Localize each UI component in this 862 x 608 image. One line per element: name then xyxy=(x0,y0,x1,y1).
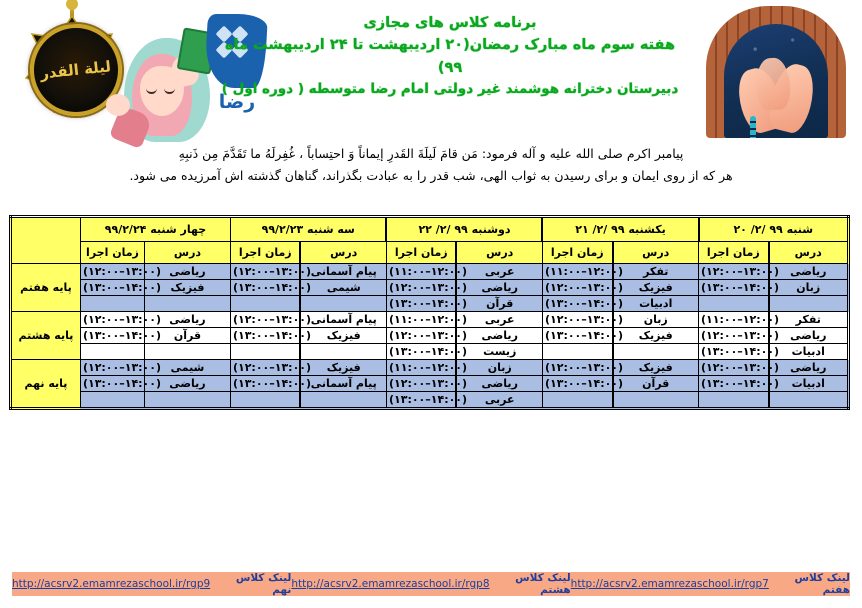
subheader-time-0: زمان اجرا xyxy=(699,242,769,264)
grade-label-2: پایه نهم xyxy=(10,360,80,409)
cell-subject-tuesday-2-1: پیام آسمانی xyxy=(300,376,386,392)
cell-time-saturday-1-2: (۱۳:۰۰–۱۴:۰۰) xyxy=(699,344,769,360)
cell-time-wednesday-2-1: (۱۳:۰۰–۱۴:۰۰) xyxy=(80,376,144,392)
cell-subject-saturday-0-2 xyxy=(769,296,849,312)
cell-time-wednesday-1-0: (۱۲:۰۰–۱۳:۰۰) xyxy=(80,312,144,328)
table-row: ریاضی(۱۲:۰۰–۱۳:۰۰)فیزیک(۱۳:۰۰–۱۴:۰۰)ریاض… xyxy=(10,328,848,344)
day-header-row: شنبه ۹۹ /۲/ ۲۰یکشنبه ۹۹ /۲/ ۲۱دوشنبه ۹۹ … xyxy=(10,217,848,242)
cell-time-saturday-0-2 xyxy=(699,296,769,312)
cell-subject-tuesday-0-2 xyxy=(300,296,386,312)
lower-hand-shape xyxy=(106,94,130,116)
cell-time-saturday-0-0: (۱۲:۰۰–۱۳:۰۰) xyxy=(699,264,769,280)
class-link-url-0[interactable]: http://acsrv2.emamrezaschool.ir/rgp7 xyxy=(571,578,769,590)
cell-time-sunday-2-0: (۱۲:۰۰–۱۳:۰۰) xyxy=(542,360,612,376)
prayer-beads-icon xyxy=(750,116,756,138)
cell-time-sunday-0-1: (۱۲:۰۰–۱۳:۰۰) xyxy=(542,280,612,296)
grade-label-0: پایه هفتم xyxy=(10,264,80,312)
cell-time-sunday-0-0: (۱۱:۰۰–۱۲:۰۰) xyxy=(542,264,612,280)
cell-subject-monday-1-2: زیست xyxy=(456,344,542,360)
cell-subject-monday-0-0: عربی xyxy=(456,264,542,280)
cell-subject-sunday-0-0: تفکر xyxy=(613,264,699,280)
schedule-poster: لیلة القدر رضا برنا xyxy=(0,0,862,608)
table-row: ادبیات(۱۳:۰۰–۱۴:۰۰)قرآن(۱۳:۰۰–۱۴:۰۰) xyxy=(10,296,848,312)
class-link-label-2: لینک کلاس نهم xyxy=(218,572,291,596)
cell-subject-tuesday-1-0: پیام آسمانی xyxy=(300,312,386,328)
hadith-arabic-line: پیامبر اکرم صلی الله علیه و آله فرمود: م… xyxy=(10,143,852,165)
link-group-2: لینک کلاس نهمhttp://acsrv2.emamrezaschoo… xyxy=(12,572,291,596)
class-link-label-0: لینک کلاس هفتم xyxy=(777,572,850,596)
table-row: ریاضی(۱۲:۰۰–۱۳:۰۰)فیزیک(۱۲:۰۰–۱۳:۰۰)زبان… xyxy=(10,360,848,376)
cell-time-sunday-0-2: (۱۳:۰۰–۱۴:۰۰) xyxy=(542,296,612,312)
link-group-1: لینک کلاس هشتمhttp://acsrv2.emamrezascho… xyxy=(291,572,570,596)
page-subtitle-week: هفته سوم ماه مبارک رمضان(۲۰ اردیبهشت تا … xyxy=(215,34,685,79)
cell-time-saturday-2-2 xyxy=(699,392,769,409)
class-link-label-1: لینک کلاس هشتم xyxy=(498,572,571,596)
cell-subject-wednesday-0-2 xyxy=(144,296,230,312)
cell-time-tuesday-2-0: (۱۲:۰۰–۱۳:۰۰) xyxy=(230,360,300,376)
subheader-subject-1: درس xyxy=(613,242,699,264)
cell-subject-sunday-1-0: زبان xyxy=(613,312,699,328)
cell-subject-wednesday-1-2 xyxy=(144,344,230,360)
class-link-url-1[interactable]: http://acsrv2.emamrezaschool.ir/rgp8 xyxy=(291,578,489,590)
cell-time-monday-1-2: (۱۳:۰۰–۱۴:۰۰) xyxy=(386,344,456,360)
cell-time-sunday-1-0: (۱۲:۰۰–۱۳:۰۰) xyxy=(542,312,612,328)
cell-subject-wednesday-2-2 xyxy=(144,392,230,409)
cell-subject-monday-0-2: قرآن xyxy=(456,296,542,312)
cell-subject-tuesday-0-1: شیمی xyxy=(300,280,386,296)
cell-time-saturday-1-0: (۱۱:۰۰–۱۲:۰۰) xyxy=(699,312,769,328)
cell-time-monday-2-0: (۱۱:۰۰–۱۲:۰۰) xyxy=(386,360,456,376)
cell-time-wednesday-1-2 xyxy=(80,344,144,360)
medallion-text: لیلة القدر xyxy=(40,57,113,82)
cell-time-saturday-1-1: (۱۲:۰۰–۱۳:۰۰) xyxy=(699,328,769,344)
cell-subject-tuesday-1-2 xyxy=(300,344,386,360)
cell-subject-saturday-1-1: ریاضی xyxy=(769,328,849,344)
cell-subject-monday-2-2: عربی xyxy=(456,392,542,409)
cell-time-monday-2-1: (۱۲:۰۰–۱۳:۰۰) xyxy=(386,376,456,392)
cell-time-wednesday-0-2 xyxy=(80,296,144,312)
day-header-3: سه شنبه ۹۹/۲/۲۳ xyxy=(230,217,386,242)
cell-subject-monday-2-1: ریاضی xyxy=(456,376,542,392)
cell-subject-saturday-2-1: ادبیات xyxy=(769,376,849,392)
cell-subject-tuesday-0-0: پیام آسمانی xyxy=(300,264,386,280)
schedule-table-wrapper: شنبه ۹۹ /۲/ ۲۰یکشنبه ۹۹ /۲/ ۲۱دوشنبه ۹۹ … xyxy=(12,215,850,410)
cell-time-sunday-1-1: (۱۳:۰۰–۱۴:۰۰) xyxy=(542,328,612,344)
table-row: زبان(۱۳:۰۰–۱۴:۰۰)فیزیک(۱۲:۰۰–۱۳:۰۰)ریاضی… xyxy=(10,280,848,296)
cell-subject-saturday-2-2 xyxy=(769,392,849,409)
schedule-table: شنبه ۹۹ /۲/ ۲۰یکشنبه ۹۹ /۲/ ۲۱دوشنبه ۹۹ … xyxy=(9,215,850,410)
cell-time-wednesday-0-1: (۱۳:۰۰–۱۴:۰۰) xyxy=(80,280,144,296)
cell-time-saturday-2-0: (۱۲:۰۰–۱۳:۰۰) xyxy=(699,360,769,376)
subheader-time-4: زمان اجرا xyxy=(80,242,144,264)
cell-subject-monday-2-0: زبان xyxy=(456,360,542,376)
page-title: برنامه کلاس های مجازی xyxy=(215,12,685,34)
link-group-0: لینک کلاس هفتمhttp://acsrv2.emamrezascho… xyxy=(571,572,850,596)
cell-time-wednesday-2-0: (۱۲:۰۰–۱۳:۰۰) xyxy=(80,360,144,376)
cell-time-saturday-0-1: (۱۳:۰۰–۱۴:۰۰) xyxy=(699,280,769,296)
sub-header-row: درسزمان اجرادرسزمان اجرادرسزمان اجرادرسز… xyxy=(10,242,848,264)
day-header-0: شنبه ۹۹ /۲/ ۲۰ xyxy=(699,217,849,242)
subheader-time-1: زمان اجرا xyxy=(542,242,612,264)
table-row: عربی(۱۳:۰۰–۱۴:۰۰) xyxy=(10,392,848,409)
cell-time-tuesday-1-2 xyxy=(230,344,300,360)
cell-time-sunday-2-1: (۱۳:۰۰–۱۴:۰۰) xyxy=(542,376,612,392)
cell-time-tuesday-1-0: (۱۲:۰۰–۱۳:۰۰) xyxy=(230,312,300,328)
cell-time-monday-1-1: (۱۲:۰۰–۱۳:۰۰) xyxy=(386,328,456,344)
table-row: ادبیات(۱۳:۰۰–۱۴:۰۰)زیست(۱۳:۰۰–۱۴:۰۰) xyxy=(10,344,848,360)
cell-subject-saturday-1-2: ادبیات xyxy=(769,344,849,360)
table-row: ادبیات(۱۳:۰۰–۱۴:۰۰)قرآن(۱۳:۰۰–۱۴:۰۰)ریاض… xyxy=(10,376,848,392)
day-header-4: چهار شنبه ۹۹/۲/۲۴ xyxy=(80,217,230,242)
cell-subject-sunday-1-1: فیزیک xyxy=(613,328,699,344)
cell-time-monday-0-1: (۱۲:۰۰–۱۳:۰۰) xyxy=(386,280,456,296)
cell-subject-sunday-2-0: فیزیک xyxy=(613,360,699,376)
cell-subject-saturday-0-0: ریاضی xyxy=(769,264,849,280)
cell-time-monday-2-2: (۱۳:۰۰–۱۴:۰۰) xyxy=(386,392,456,409)
cell-time-tuesday-0-1: (۱۳:۰۰–۱۴:۰۰) xyxy=(230,280,300,296)
hadith-block: پیامبر اکرم صلی الله علیه و آله فرمود: م… xyxy=(10,143,852,187)
cell-time-tuesday-1-1: (۱۳:۰۰–۱۴:۰۰) xyxy=(230,328,300,344)
subheader-subject-2: درس xyxy=(456,242,542,264)
cell-subject-monday-1-1: ریاضی xyxy=(456,328,542,344)
cell-time-sunday-1-2 xyxy=(542,344,612,360)
praying-hands-archway-image xyxy=(706,6,846,138)
subheader-subject-3: درس xyxy=(300,242,386,264)
cell-subject-saturday-0-1: زبان xyxy=(769,280,849,296)
night-sky-background xyxy=(724,24,828,138)
hadith-persian-line: هر که از روی ایمان و برای رسیدن به ثواب … xyxy=(10,165,852,187)
cell-subject-monday-0-1: ریاضی xyxy=(456,280,542,296)
cell-time-wednesday-1-1: (۱۳:۰۰–۱۴:۰۰) xyxy=(80,328,144,344)
day-header-1: یکشنبه ۹۹ /۲/ ۲۱ xyxy=(542,217,698,242)
cell-subject-tuesday-2-2 xyxy=(300,392,386,409)
cell-time-monday-0-0: (۱۱:۰۰–۱۲:۰۰) xyxy=(386,264,456,280)
subheader-time-2: زمان اجرا xyxy=(386,242,456,264)
subheader-subject-4: درس xyxy=(144,242,230,264)
cell-subject-sunday-2-1: قرآن xyxy=(613,376,699,392)
class-link-url-2[interactable]: http://acsrv2.emamrezaschool.ir/rgp9 xyxy=(12,578,210,590)
cell-time-wednesday-2-2 xyxy=(80,392,144,409)
cell-subject-sunday-2-2 xyxy=(613,392,699,409)
poster-title-block: برنامه کلاس های مجازی هفته سوم ماه مبارک… xyxy=(215,12,685,100)
cell-subject-tuesday-1-1: فیزیک xyxy=(300,328,386,344)
page-subtitle-school: دبیرستان دخترانه هوشمند غیر دولتی امام ر… xyxy=(215,79,685,100)
cell-time-tuesday-2-1: (۱۳:۰۰–۱۴:۰۰) xyxy=(230,376,300,392)
brick-arch-shape xyxy=(706,6,846,138)
cell-time-tuesday-0-0: (۱۲:۰۰–۱۳:۰۰) xyxy=(230,264,300,280)
table-row: ریاضی(۱۲:۰۰–۱۳:۰۰)تفکر(۱۱:۰۰–۱۲:۰۰)عربی(… xyxy=(10,264,848,280)
cell-time-saturday-2-1: (۱۳:۰۰–۱۴:۰۰) xyxy=(699,376,769,392)
cell-subject-tuesday-2-0: فیزیک xyxy=(300,360,386,376)
cell-time-tuesday-2-2 xyxy=(230,392,300,409)
subheader-subject-0: درس xyxy=(769,242,849,264)
cell-time-sunday-2-2 xyxy=(542,392,612,409)
cell-subject-sunday-1-2 xyxy=(613,344,699,360)
cell-subject-monday-1-0: عربی xyxy=(456,312,542,328)
grade-label-1: پایه هشتم xyxy=(10,312,80,360)
table-row: تفکر(۱۱:۰۰–۱۲:۰۰)زبان(۱۲:۰۰–۱۳:۰۰)عربی(۱… xyxy=(10,312,848,328)
subheader-time-3: زمان اجرا xyxy=(230,242,300,264)
cell-subject-sunday-0-2: ادبیات xyxy=(613,296,699,312)
praying-hand-icon xyxy=(755,57,792,111)
table-header: شنبه ۹۹ /۲/ ۲۰یکشنبه ۹۹ /۲/ ۲۱دوشنبه ۹۹ … xyxy=(10,217,848,264)
grade-column-header xyxy=(10,217,80,264)
cell-subject-saturday-1-0: تفکر xyxy=(769,312,849,328)
schedule-body: ریاضی(۱۲:۰۰–۱۳:۰۰)تفکر(۱۱:۰۰–۱۲:۰۰)عربی(… xyxy=(10,264,848,409)
day-header-2: دوشنبه ۹۹ /۲/ ۲۲ xyxy=(386,217,542,242)
class-links-bar: لینک کلاس هفتمhttp://acsrv2.emamrezascho… xyxy=(12,572,850,596)
cell-time-monday-0-2: (۱۳:۰۰–۱۴:۰۰) xyxy=(386,296,456,312)
cell-time-wednesday-0-0: (۱۲:۰۰–۱۳:۰۰) xyxy=(80,264,144,280)
cell-subject-saturday-2-0: ریاضی xyxy=(769,360,849,376)
cell-time-monday-1-0: (۱۱:۰۰–۱۲:۰۰) xyxy=(386,312,456,328)
cell-subject-sunday-0-1: فیزیک xyxy=(613,280,699,296)
cell-time-tuesday-0-2 xyxy=(230,296,300,312)
